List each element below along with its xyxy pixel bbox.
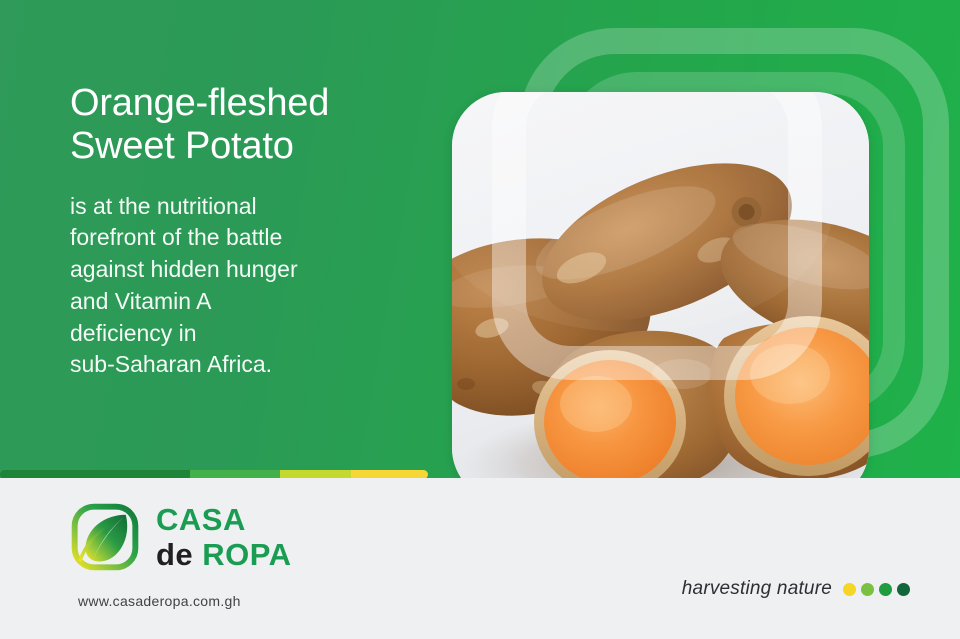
- website-url[interactable]: www.casaderopa.com.gh: [78, 593, 241, 609]
- brand-wordmark: CASA de ROPA: [156, 504, 292, 570]
- brand-name-line1: CASA: [156, 504, 292, 535]
- dot-medium-green: [879, 583, 892, 596]
- leaf-in-rounded-square-logo-icon: [68, 500, 142, 574]
- dot-dark-green: [897, 583, 910, 596]
- footer: CASA de ROPA www.casaderopa.com.gh harve…: [0, 478, 960, 639]
- sweet-potato-illustration: [452, 92, 869, 502]
- brand-name-line2: de ROPA: [156, 539, 292, 570]
- hero-copy-block: Orange-fleshed Sweet Potato is at the nu…: [70, 82, 440, 381]
- tagline-dots: [843, 583, 910, 596]
- sweet-potato-photo: [452, 92, 869, 502]
- poster-canvas: Orange-fleshed Sweet Potato is at the nu…: [0, 0, 960, 639]
- brand-ropa-word: ROPA: [202, 537, 291, 572]
- hero-subcopy: is at the nutritional forefront of the b…: [70, 191, 440, 381]
- page-title: Orange-fleshed Sweet Potato: [70, 82, 440, 169]
- brand-lockup[interactable]: CASA de ROPA: [68, 500, 292, 574]
- dot-yellow: [843, 583, 856, 596]
- dot-light-green: [861, 583, 874, 596]
- brand-de-word: de: [156, 537, 202, 572]
- tagline-text: harvesting nature: [682, 578, 832, 600]
- tagline-group: harvesting nature: [682, 578, 910, 600]
